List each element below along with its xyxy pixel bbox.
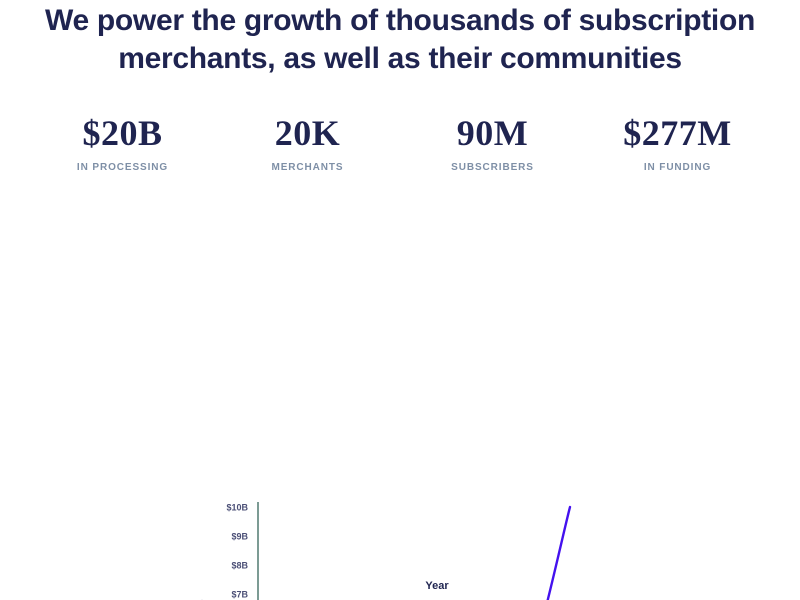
- page-title-line-2: merchants, as well as their communities: [0, 40, 800, 78]
- stat-in-funding: $277M IN FUNDING: [585, 112, 770, 173]
- revenue-chart-svg: 0$1B$2B$3B$4B$5B$6B$7B$8B$9B$10B 2014201…: [0, 240, 800, 600]
- page-title-line-1: We power the growth of thousands of subs…: [0, 2, 800, 40]
- stat-subscribers: 90M SUBSCRIBERS: [400, 112, 585, 173]
- stat-label: IN PROCESSING: [30, 162, 215, 173]
- stat-value: $20B: [30, 112, 215, 154]
- revenue-curve: [258, 507, 570, 600]
- y-axis-tick-label: $8B: [231, 561, 248, 571]
- stat-value: $277M: [585, 112, 770, 154]
- x-axis-title: Year: [425, 580, 449, 592]
- stat-label: SUBSCRIBERS: [400, 162, 585, 173]
- y-axis-tick-label: $10B: [226, 503, 248, 513]
- revenue-chart: 0$1B$2B$3B$4B$5B$6B$7B$8B$9B$10B 2014201…: [0, 240, 800, 600]
- y-axis-tick-label: $7B: [231, 590, 248, 600]
- stat-value: 90M: [400, 112, 585, 154]
- stat-value: 20K: [215, 112, 400, 154]
- y-axis-tick-label: $9B: [231, 532, 248, 542]
- stats-row: $20B IN PROCESSING 20K MERCHANTS 90M SUB…: [30, 112, 770, 173]
- stat-in-processing: $20B IN PROCESSING: [30, 112, 215, 173]
- y-axis-ticks: 0$1B$2B$3B$4B$5B$6B$7B$8B$9B$10B: [226, 503, 248, 600]
- stat-label: MERCHANTS: [215, 162, 400, 173]
- stat-merchants: 20K MERCHANTS: [215, 112, 400, 173]
- stat-label: IN FUNDING: [585, 162, 770, 173]
- page-title: We power the growth of thousands of subs…: [0, 2, 800, 78]
